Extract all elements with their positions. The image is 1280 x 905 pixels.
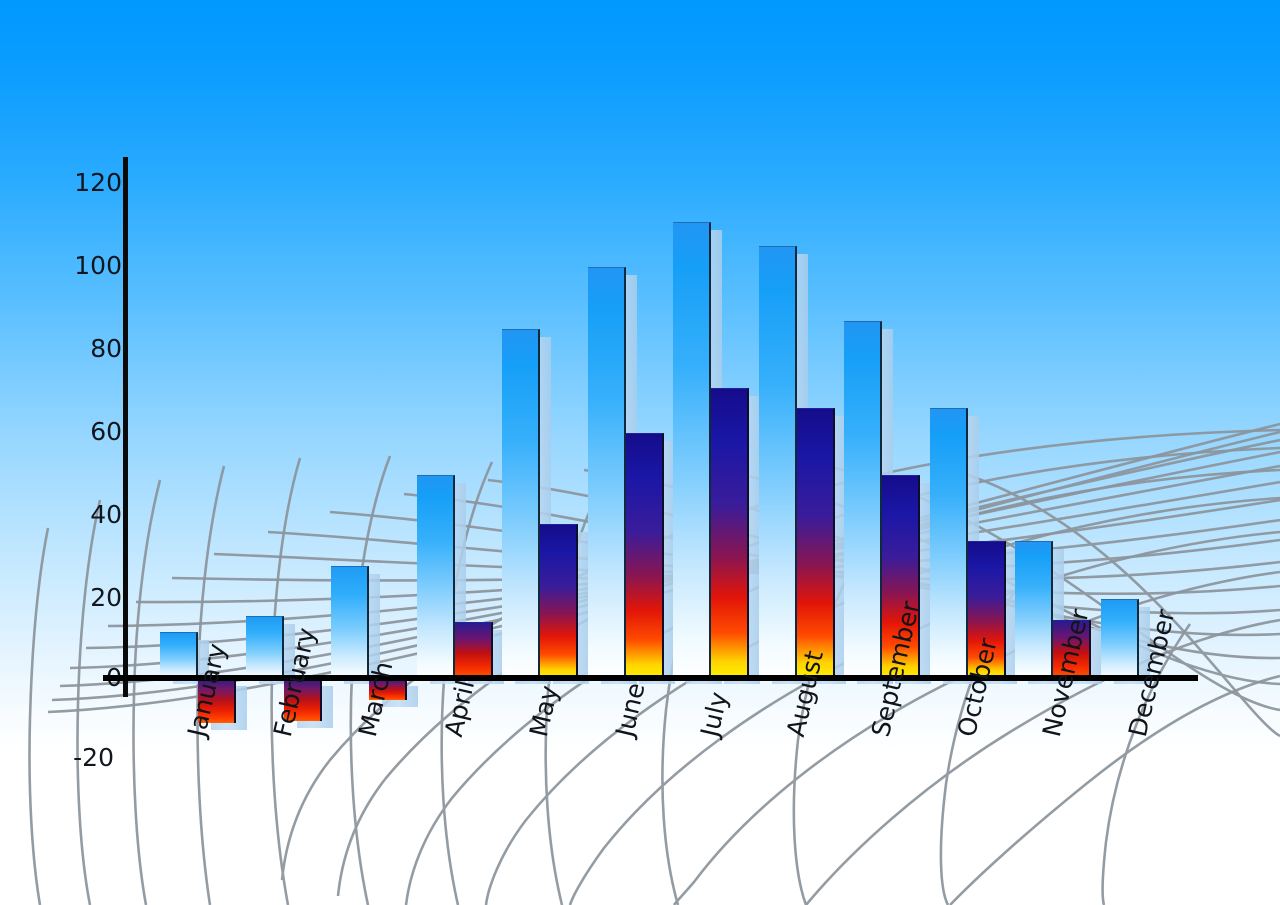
- chart-canvas: 120 100 80 60 40 20 0 -20 JanuaryFebruar…: [0, 0, 1280, 905]
- bar-fire-april: [455, 622, 493, 679]
- bar-blue-october: [930, 408, 968, 679]
- ytick-80: 80: [48, 334, 122, 363]
- bar-blue-february: [246, 616, 284, 679]
- bar-blue-november: [1015, 541, 1053, 679]
- bar-blue-july: [673, 222, 711, 680]
- y-axis: [123, 157, 128, 697]
- bar-blue-january: [160, 632, 198, 679]
- bar-blue-august: [759, 246, 797, 679]
- plot-area: 120 100 80 60 40 20 0 -20 JanuaryFebruar…: [0, 0, 1280, 905]
- bar-blue-september: [844, 321, 882, 679]
- zero-baseline: [103, 675, 1198, 681]
- bar-blue-march: [331, 566, 369, 679]
- ytick-60: 60: [48, 417, 122, 446]
- bar-blue-april: [417, 475, 455, 679]
- bar-fire-august: [797, 408, 835, 679]
- ytick-neg20: -20: [40, 743, 114, 772]
- ytick-100: 100: [48, 251, 122, 280]
- bar-fire-july: [711, 388, 749, 680]
- x-label-june: June: [610, 680, 651, 740]
- bar-fire-may: [540, 524, 578, 679]
- x-label-may: May: [524, 683, 564, 740]
- ytick-40: 40: [48, 500, 122, 529]
- bar-blue-december: [1101, 599, 1139, 679]
- ytick-20: 20: [48, 583, 122, 612]
- x-label-july: July: [695, 689, 733, 739]
- bar-blue-may: [502, 329, 540, 679]
- bar-fire-june: [626, 433, 664, 679]
- bar-blue-june: [588, 267, 626, 679]
- ytick-120: 120: [48, 168, 122, 197]
- x-label-april: April: [439, 677, 480, 739]
